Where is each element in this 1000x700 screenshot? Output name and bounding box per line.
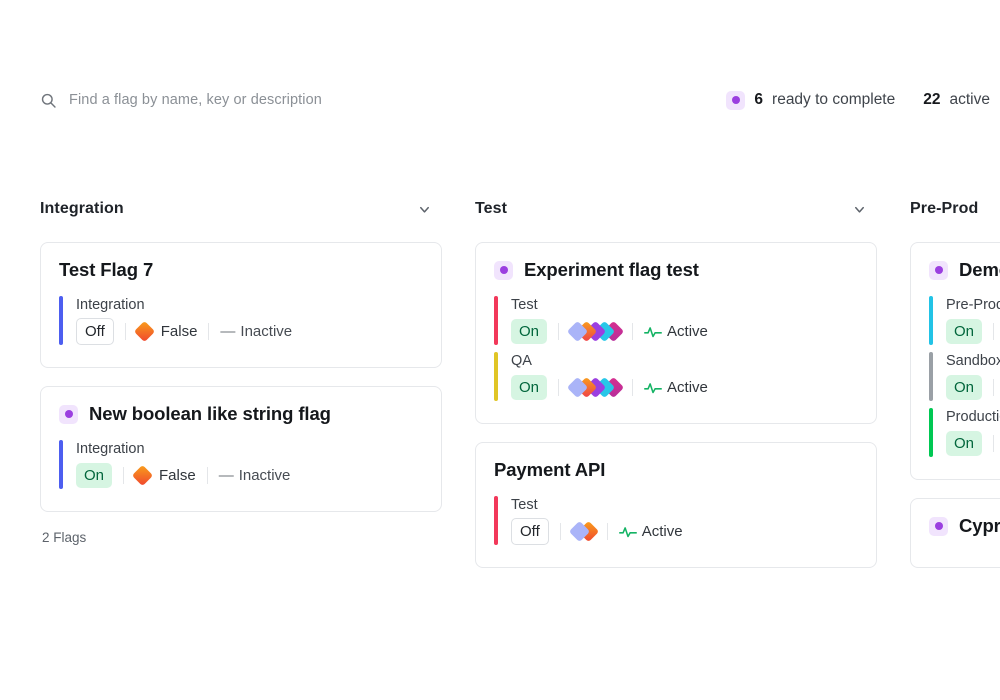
environment-name: Pre-Prod — [946, 297, 1000, 313]
ready-count-number: 6 — [754, 91, 763, 109]
flag-name: Demo flag — [959, 259, 1000, 281]
environment-name: QA — [511, 353, 708, 369]
flag-value-text: False — [161, 323, 198, 340]
environment-row: IntegrationOffFalse—Inactive — [59, 293, 423, 349]
environment-row: Pre-ProdOnActive — [929, 293, 1000, 349]
ready-dot-icon — [929, 517, 948, 536]
environment-name: Integration — [76, 297, 292, 313]
flag-status-text: Active — [667, 323, 708, 340]
divider — [558, 323, 559, 340]
flag-status-text: Inactive — [239, 467, 291, 484]
column-header[interactable]: Test — [475, 196, 877, 222]
variation-diamond-stack — [570, 324, 621, 339]
flag-state-badge[interactable]: On — [946, 319, 982, 344]
divider — [207, 467, 208, 484]
ready-dot-icon — [59, 405, 78, 424]
flag-card-header: Demo flag — [929, 259, 1000, 281]
count-ready-to-complete[interactable]: 6 ready to complete — [726, 91, 895, 110]
flag-state-badge[interactable]: On — [511, 319, 547, 344]
environment-row: QAOnActive — [494, 349, 858, 405]
flag-name: Experiment flag test — [524, 259, 699, 281]
flag-card[interactable]: Payment APITestOffActive — [475, 442, 877, 568]
active-count-number: 22 — [923, 91, 940, 109]
flag-state-badge[interactable]: On — [511, 375, 547, 400]
search-input[interactable] — [69, 92, 399, 108]
flag-name: Test Flag 7 — [59, 259, 153, 281]
environment-accent-bar — [494, 296, 498, 345]
flag-card[interactable]: Cypress flag — [910, 498, 1000, 568]
divider — [607, 523, 608, 540]
dash-icon: — — [219, 468, 234, 483]
divider — [123, 467, 124, 484]
ready-dot-icon — [494, 261, 513, 280]
environment-name: Test — [511, 497, 683, 513]
flag-board: IntegrationTest Flag 7IntegrationOffFals… — [0, 196, 1000, 700]
column-header[interactable]: Integration — [40, 196, 442, 222]
divider — [632, 379, 633, 396]
flag-card-header: Cypress flag — [929, 515, 1000, 537]
variation-diamond-stack — [137, 324, 152, 339]
board-column: IntegrationTest Flag 7IntegrationOffFals… — [40, 196, 442, 700]
board-column: Pre-ProdDemo flagPre-ProdOnActiveSandbox… — [910, 196, 1000, 700]
environment-name: Sandbox — [946, 353, 1000, 369]
flag-status-text: Active — [667, 379, 708, 396]
flag-board-page: 6 ready to complete 22 active Integratio… — [0, 0, 1000, 700]
activity-pulse-icon — [619, 525, 637, 539]
flag-counts: 6 ready to complete 22 active — [726, 91, 990, 110]
flag-value-text: False — [159, 467, 196, 484]
search-box[interactable] — [40, 92, 399, 109]
flag-name: Cypress flag — [959, 515, 1000, 537]
ready-count-label: ready to complete — [772, 91, 895, 109]
flag-status: —Inactive — [219, 467, 291, 484]
column-footer-count: 2 Flags — [40, 530, 442, 545]
environment-accent-bar — [494, 496, 498, 545]
variation-diamond-stack — [135, 468, 150, 483]
environment-row: ProductionOnActive — [929, 405, 1000, 461]
divider — [558, 379, 559, 396]
flag-card[interactable]: Experiment flag testTestOnActiveQAOnActi… — [475, 242, 877, 424]
flag-name: Payment API — [494, 459, 605, 481]
board-column: TestExperiment flag testTestOnActiveQAOn… — [475, 196, 877, 700]
environment-row: TestOffActive — [494, 493, 858, 549]
environment-name: Test — [511, 297, 708, 313]
toolbar: 6 ready to complete 22 active — [0, 78, 1000, 122]
flag-status: Active — [644, 379, 708, 396]
flag-name: New boolean like string flag — [89, 403, 331, 425]
flag-state-badge[interactable]: On — [946, 375, 982, 400]
column-title: Test — [475, 200, 507, 218]
flag-status-text: Inactive — [240, 323, 292, 340]
variation-diamond-icon — [132, 465, 153, 486]
flag-state-badge[interactable]: Off — [511, 518, 549, 545]
divider — [993, 379, 994, 396]
flag-card-header: Test Flag 7 — [59, 259, 423, 281]
flag-status: Active — [619, 523, 683, 540]
environment-row: SandboxOnActive — [929, 349, 1000, 405]
flag-state-badge[interactable]: On — [76, 463, 112, 488]
environment-row: TestOnActive — [494, 293, 858, 349]
flag-status-text: Active — [642, 523, 683, 540]
flag-card-header: New boolean like string flag — [59, 403, 423, 425]
flag-card-header: Experiment flag test — [494, 259, 858, 281]
flag-state-badge[interactable]: On — [946, 431, 982, 456]
column-header[interactable]: Pre-Prod — [910, 196, 1000, 222]
divider — [560, 523, 561, 540]
activity-pulse-icon — [644, 325, 662, 339]
flag-value: False — [135, 467, 196, 484]
flag-status: Active — [644, 323, 708, 340]
flag-value: False — [137, 323, 198, 340]
variation-diamond-stack — [570, 380, 621, 395]
divider — [993, 323, 994, 340]
environment-row: IntegrationOnFalse—Inactive — [59, 437, 423, 493]
variation-diamond-icon — [134, 321, 155, 342]
environment-accent-bar — [494, 352, 498, 401]
environment-accent-bar — [929, 352, 933, 401]
divider — [993, 435, 994, 452]
activity-pulse-icon — [644, 381, 662, 395]
flag-card-header: Payment API — [494, 459, 858, 481]
count-active[interactable]: 22 active — [923, 91, 990, 109]
column-title: Integration — [40, 200, 124, 218]
divider — [208, 323, 209, 340]
flag-card[interactable]: Demo flagPre-ProdOnActiveSandboxOnActive… — [910, 242, 1000, 480]
variation-diamond-stack — [572, 524, 596, 539]
purple-dot-icon — [726, 91, 745, 110]
environment-name: Integration — [76, 441, 290, 457]
chevron-down-icon[interactable] — [417, 202, 432, 217]
flag-card[interactable]: Test Flag 7IntegrationOffFalse—Inactive — [40, 242, 442, 368]
dash-icon: — — [220, 324, 235, 339]
active-count-label: active — [950, 91, 991, 109]
column-title: Pre-Prod — [910, 200, 978, 218]
divider — [125, 323, 126, 340]
environment-accent-bar — [59, 440, 63, 489]
chevron-down-icon[interactable] — [852, 202, 867, 217]
divider — [632, 323, 633, 340]
flag-state-badge[interactable]: Off — [76, 318, 114, 345]
flag-card[interactable]: New boolean like string flagIntegrationO… — [40, 386, 442, 512]
environment-name: Production — [946, 409, 1000, 425]
ready-dot-icon — [929, 261, 948, 280]
environment-accent-bar — [929, 408, 933, 457]
environment-accent-bar — [929, 296, 933, 345]
environment-accent-bar — [59, 296, 63, 345]
search-icon — [40, 92, 57, 109]
flag-status: —Inactive — [220, 323, 292, 340]
